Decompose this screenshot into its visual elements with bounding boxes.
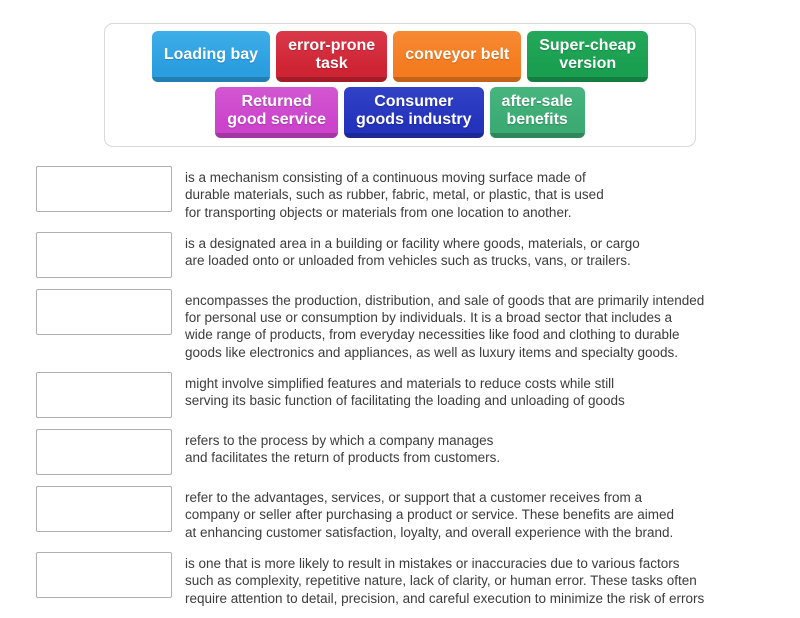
answer-tile-label: Super-cheap version bbox=[539, 37, 636, 73]
answer-tile[interactable]: Consumer goods industry bbox=[344, 87, 484, 138]
answer-tile[interactable]: error-prone task bbox=[276, 31, 387, 82]
definition-text: is a designated area in a building or fa… bbox=[185, 232, 764, 270]
definition-text: is a mechanism consisting of a continuou… bbox=[185, 166, 764, 221]
definition-row: refers to the process by which a company… bbox=[36, 429, 764, 475]
answer-tile[interactable]: Loading bay bbox=[152, 31, 270, 82]
definition-text: refer to the advantages, services, or su… bbox=[185, 486, 764, 541]
answer-drop-zone[interactable] bbox=[36, 166, 172, 212]
answer-tile-label: conveyor belt bbox=[405, 46, 509, 64]
definition-row: is one that is more likely to result in … bbox=[36, 552, 764, 607]
definition-row: is a mechanism consisting of a continuou… bbox=[36, 166, 764, 221]
tile-row: Returned good serviceConsumer goods indu… bbox=[111, 87, 689, 138]
definition-text: refers to the process by which a company… bbox=[185, 429, 764, 467]
tile-row: Loading bayerror-prone taskconveyor belt… bbox=[111, 31, 689, 82]
answer-drop-zone[interactable] bbox=[36, 486, 172, 532]
answer-tile-label: Consumer goods industry bbox=[356, 93, 472, 129]
answer-drop-zone[interactable] bbox=[36, 232, 172, 278]
answer-tile[interactable]: Super-cheap version bbox=[527, 31, 648, 82]
definition-row: encompasses the production, distribution… bbox=[36, 289, 764, 361]
definition-row: might involve simplified features and ma… bbox=[36, 372, 764, 418]
answer-tile-bank: Loading bayerror-prone taskconveyor belt… bbox=[104, 23, 696, 147]
answer-drop-zone[interactable] bbox=[36, 552, 172, 598]
answer-drop-zone[interactable] bbox=[36, 289, 172, 335]
definition-row: refer to the advantages, services, or su… bbox=[36, 486, 764, 541]
definition-row: is a designated area in a building or fa… bbox=[36, 232, 764, 278]
answer-tile-label: Loading bay bbox=[164, 46, 258, 64]
definition-text: might involve simplified features and ma… bbox=[185, 372, 764, 410]
answer-tile-label: after-sale benefits bbox=[502, 93, 573, 129]
answer-tile[interactable]: Returned good service bbox=[215, 87, 338, 138]
definition-text: is one that is more likely to result in … bbox=[185, 552, 764, 607]
answer-drop-zone[interactable] bbox=[36, 372, 172, 418]
answer-tile[interactable]: conveyor belt bbox=[393, 31, 521, 82]
answer-tile-label: Returned good service bbox=[227, 93, 326, 129]
answer-tile[interactable]: after-sale benefits bbox=[490, 87, 585, 138]
answer-tile-label: error-prone task bbox=[288, 37, 375, 73]
definition-list: is a mechanism consisting of a continuou… bbox=[36, 166, 764, 618]
answer-drop-zone[interactable] bbox=[36, 429, 172, 475]
definition-text: encompasses the production, distribution… bbox=[185, 289, 764, 361]
